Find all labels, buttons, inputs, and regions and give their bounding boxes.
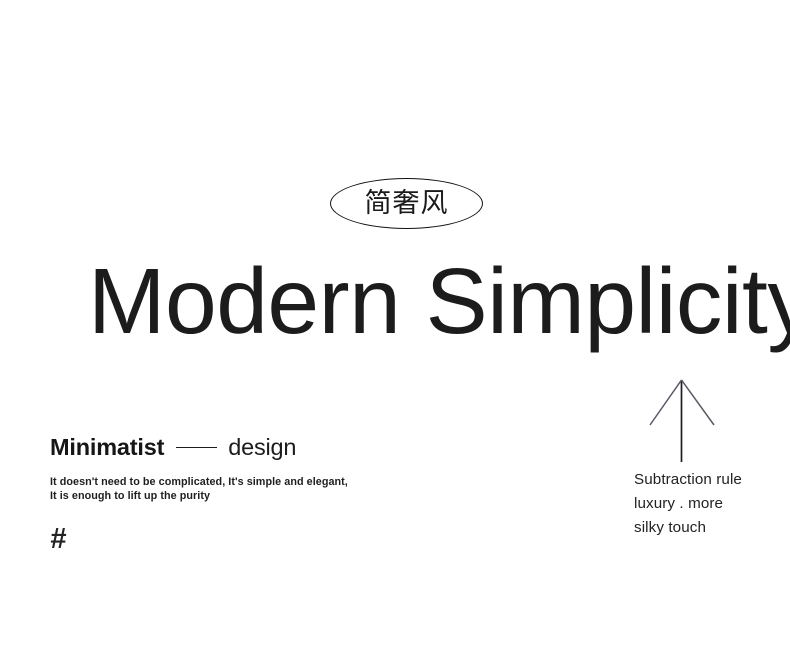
badge-ellipse-group: 简奢风 (330, 178, 483, 229)
right-caption-line-3: silky touch (634, 516, 774, 540)
body-copy: It doesn't need to be complicated, It's … (50, 476, 360, 503)
kicker-strong-label: Minimatist (50, 436, 164, 460)
badge-label: 简奢风 (330, 178, 483, 229)
right-text-block: Subtraction rule luxury . more silky tou… (634, 468, 774, 540)
hash-icon: # (50, 525, 360, 554)
right-caption-line-2: luxury . more (634, 492, 774, 516)
left-text-block: Minimatist design It doesn't need to be … (50, 433, 360, 554)
horizontal-rule-divider (176, 447, 217, 448)
body-copy-line-1: It doesn't need to be complicated, It's … (50, 476, 360, 490)
kicker-light-label: design (228, 436, 296, 460)
arrow-up-icon (645, 374, 721, 466)
kicker-row: Minimatist design (50, 433, 360, 462)
page-title: Modern Simplicity (88, 255, 790, 348)
right-caption-line-1: Subtraction rule (634, 468, 774, 492)
body-copy-line-2: It is enough to lift up the purity (50, 490, 360, 504)
poster-canvas: 简奢风 Modern Simplicity Minimatist design … (0, 0, 790, 669)
